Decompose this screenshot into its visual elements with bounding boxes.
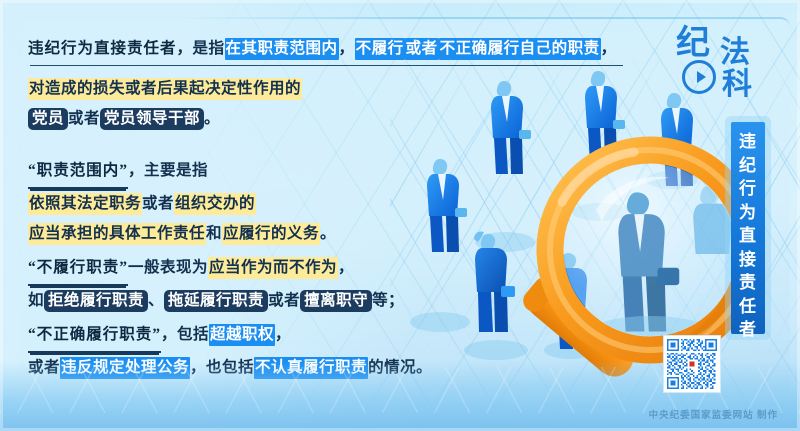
p3-l1b: 一般表现为	[128, 259, 208, 276]
p1-l1b: ，是指	[177, 40, 225, 57]
p1-highlight-party-leader: 党员领导干部	[100, 108, 204, 130]
p1-highlight-party-member: 党员	[28, 108, 68, 130]
p2-highlight-org-assigned: 组织交办的	[174, 193, 256, 215]
p3-highlight-delay: 拖延履行职责	[164, 290, 268, 312]
p3-highlight-refuse: 拒绝履行职责	[44, 290, 148, 312]
paragraph-1-underline	[30, 65, 623, 66]
qr-code[interactable]	[663, 335, 721, 393]
qr-svg	[667, 339, 717, 389]
p1-l1h: ，	[601, 40, 617, 57]
p2-term-scope: “职责范围内”	[28, 156, 128, 189]
p1-highlight-decisive: 对造成的损失或者后果起决定性作用的	[28, 78, 302, 100]
play-circle-icon	[682, 60, 716, 94]
paragraph-2-line-3: 应当承担的具体工作责任和应履行的义务。	[28, 219, 678, 249]
paragraph-1-line-2: 对造成的损失或者后果起决定性作用的	[28, 74, 678, 104]
p4-term-improper: “不正确履行职责”	[28, 320, 161, 353]
vertical-title-banner: 违纪行为直接责任者	[731, 122, 765, 334]
p1-l3d: 。	[204, 110, 220, 127]
paragraph-2-line-2: 依照其法定职务或者组织交办的	[28, 189, 678, 219]
p2-highlight-specific-duty: 应当承担的具体工作责任	[28, 223, 206, 245]
p4-l1b: ，包括	[161, 326, 209, 343]
paragraph-3: “不履行职责”一般表现为应当作为而不作为， 如拒绝履行职责、拖延履行职责或者擅离…	[28, 253, 678, 316]
p1-l1d: ，	[339, 40, 355, 57]
logo-char-fa: 法	[720, 38, 750, 68]
paragraph-3-line-2: 如拒绝履行职责、拖延履行职责或者擅离职守等；	[28, 286, 678, 316]
logo-char-ke: 科	[722, 70, 752, 100]
qr-code-image	[667, 339, 717, 389]
credit-text: 中央纪委国家监委网站 制作	[649, 407, 778, 421]
paragraph-2-line-1: “职责范围内”，主要是指	[28, 156, 678, 189]
p3-l2e: 或者	[268, 292, 300, 309]
logo-char-ji: 纪	[676, 26, 710, 60]
p3-l1d: ，	[338, 259, 354, 276]
p3-term-nonperformance: “不履行职责”	[28, 253, 128, 286]
p2-highlight-statutory-duty: 依照其法定职务	[28, 193, 142, 215]
p1-l3b: 或者	[68, 110, 100, 127]
p1-highlight-nonperform: 不履行	[355, 38, 405, 60]
p1-highlight-improper: 不正确履行自己的职责	[439, 38, 601, 60]
p3-highlight-desertion: 擅离职守	[300, 290, 372, 312]
p2-l3d: 。	[320, 225, 336, 242]
term-direct-responsible: 违纪行为直接责任者	[28, 40, 177, 57]
p1-highlight-scope: 在其职责范围内	[225, 38, 339, 60]
p4-l1d: ，	[275, 326, 291, 343]
paragraph-1-line-3: 党员或者党员领导干部。	[28, 104, 678, 134]
paragraph-1: 违纪行为直接责任者，是指在其职责范围内，不履行或者不正确履行自己的职责， 对造成…	[28, 34, 678, 134]
paragraph-4-line-1: “不正确履行职责”，包括超越职权，	[28, 320, 678, 353]
p2-l1b: ，主要是指	[128, 162, 208, 179]
poster-root: 违纪行为直接责任者，是指在其职责范围内，不履行或者不正确履行自己的职责， 对造成…	[0, 0, 800, 431]
p2-l2b: 或者	[142, 195, 174, 212]
p3-l2c: 、	[148, 292, 164, 309]
p3-highlight-omission: 应当作为而不作为	[208, 257, 338, 279]
brand-logo: 纪 法 科	[676, 24, 772, 110]
paragraph-1-line-1: 违纪行为直接责任者，是指在其职责范围内，不履行或者不正确履行自己的职责，	[28, 34, 678, 64]
p4-highlight-overstep: 超越职权	[209, 324, 275, 346]
p3-l2g: 等；	[372, 292, 404, 309]
p1-l1f: 或者	[405, 38, 439, 60]
paragraph-3-line-1: “不履行职责”一般表现为应当作为而不作为，	[28, 253, 678, 286]
p3-l2a: 如	[28, 292, 44, 309]
article-text: 违纪行为直接责任者，是指在其职责范围内，不履行或者不正确履行自己的职责， 对造成…	[28, 34, 678, 387]
p2-highlight-obligation: 应履行的义务	[222, 223, 320, 245]
paragraph-2: “职责范围内”，主要是指 依照其法定职务或者组织交办的 应当承担的具体工作责任和…	[28, 156, 678, 249]
p2-l3b: 和	[206, 225, 222, 242]
